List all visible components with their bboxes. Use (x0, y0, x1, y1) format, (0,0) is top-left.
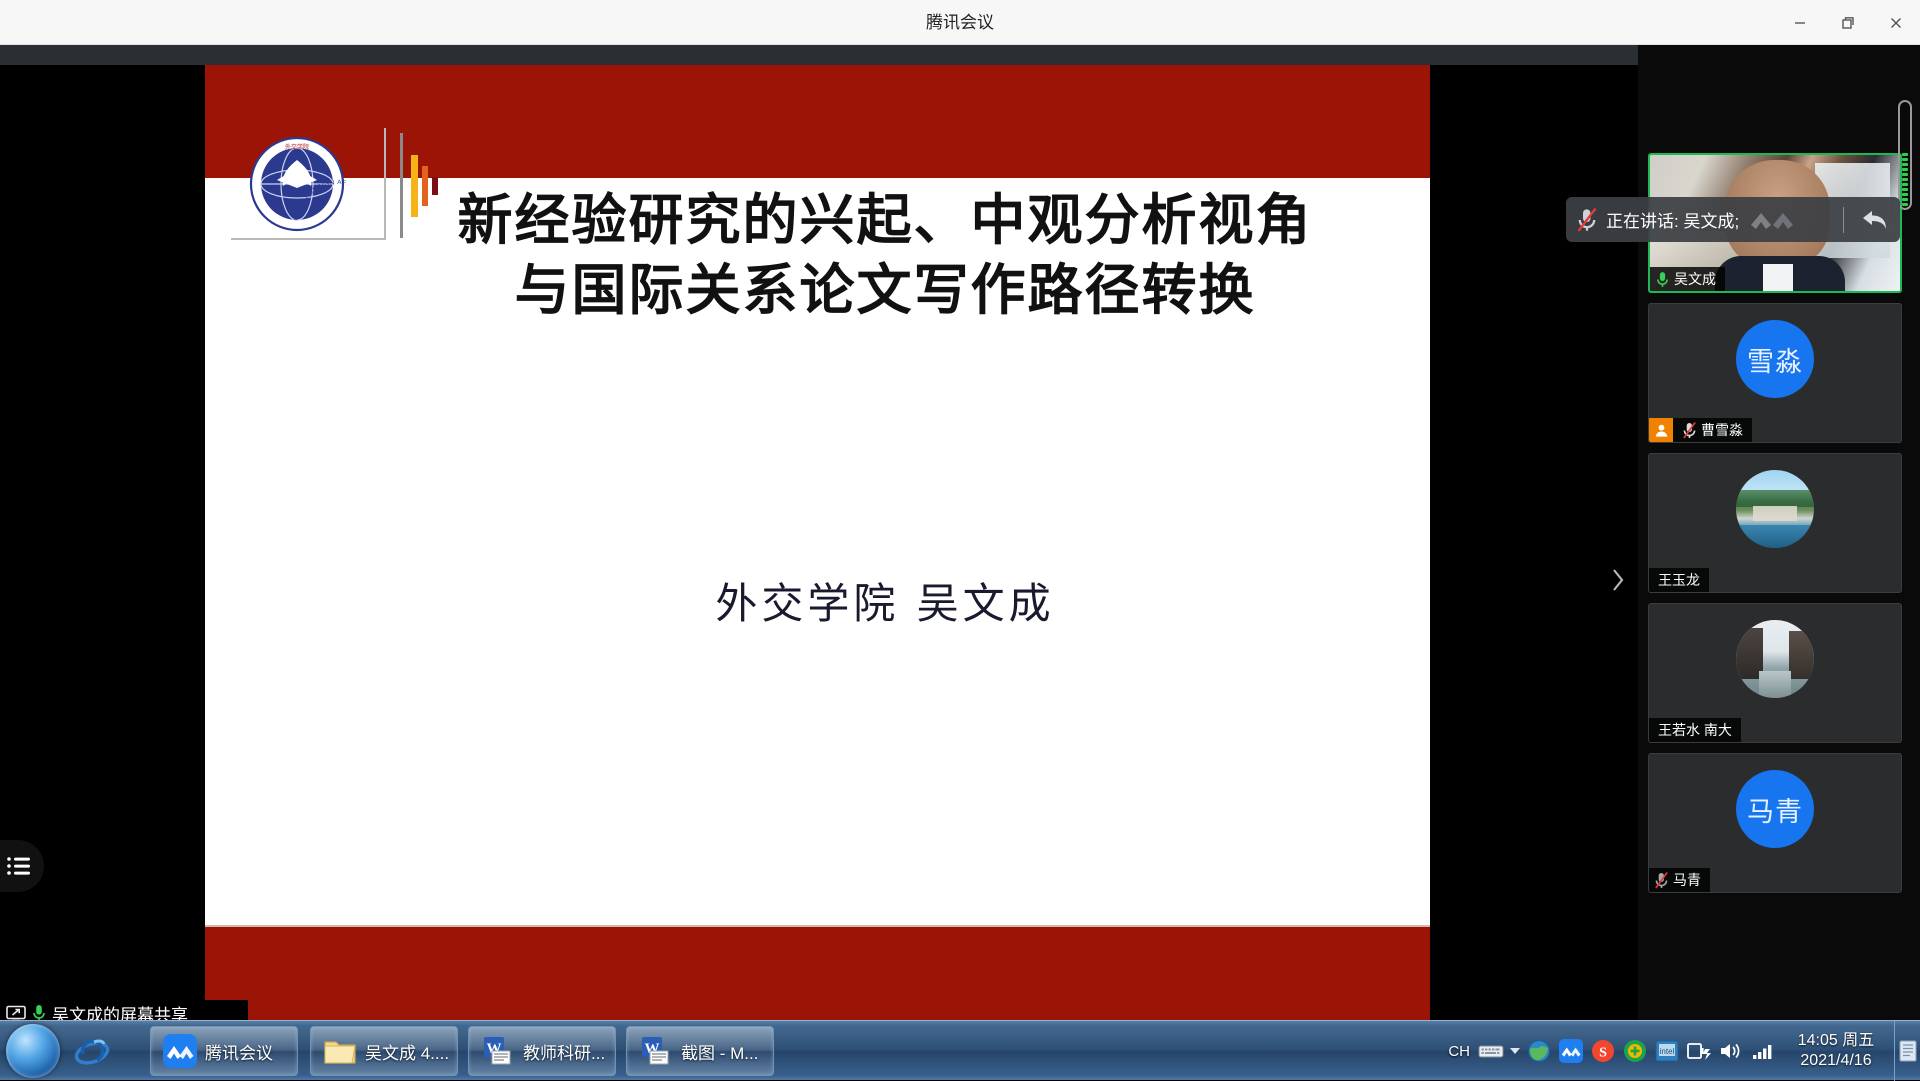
svg-text:intel: intel (1660, 1047, 1675, 1056)
speaking-toast[interactable]: 正在讲话: 吴文成; (1566, 197, 1900, 242)
taskbar-item-label: 教师科研... (523, 1039, 605, 1064)
presentation-slide: 外交学院 CHINA FOREIGN AFFAIRS UNIVERSITY 新经… (205, 65, 1430, 1040)
participant-name-bar: 马青 (1649, 868, 1710, 892)
show-desktop-button[interactable] (1894, 1021, 1920, 1081)
taskbar-item-folder[interactable]: 吴文成 4.... (310, 1026, 458, 1076)
svg-text:S: S (1599, 1046, 1607, 1061)
taskbar-item-word-doc-2[interactable]: W 截图 - M... (626, 1026, 774, 1076)
participant-name: 王玉龙 (1649, 570, 1700, 590)
collapse-panel-button[interactable] (1606, 560, 1630, 600)
word-icon: W (481, 1034, 515, 1068)
microphone-muted-icon[interactable] (1576, 208, 1598, 232)
network-signal-icon[interactable] (1748, 1021, 1778, 1081)
participant-name: 王若水 南大 (1649, 720, 1732, 740)
avatar: 马青 (1736, 770, 1814, 848)
participant-name-bar: 王玉龙 (1649, 568, 1709, 592)
reply-arrow-icon[interactable] (1860, 207, 1890, 233)
shared-screen-stage: 外交学院 CHINA FOREIGN AFFAIRS UNIVERSITY 新经… (0, 45, 1638, 1020)
window-title: 腾讯会议 (0, 0, 1920, 45)
keyboard-icon[interactable] (1476, 1021, 1506, 1081)
svg-text:外交学院: 外交学院 (285, 143, 309, 151)
meeting-window-body: 外交学院 CHINA FOREIGN AFFAIRS UNIVERSITY 新经… (0, 45, 1920, 1020)
intel-graphics-icon[interactable]: intel (1652, 1021, 1682, 1081)
close-button[interactable] (1872, 0, 1920, 45)
participant-name: 吴文成 (1674, 269, 1716, 289)
taskbar-item-tencent-meeting[interactable]: 腾讯会议 (150, 1026, 298, 1076)
chevron-small-down-icon[interactable] (1508, 1021, 1522, 1081)
microphone-muted-icon (1649, 872, 1673, 889)
toast-divider (1843, 207, 1844, 233)
taskbar-item-label: 吴文成 4.... (365, 1039, 449, 1064)
tencent-meeting-logo (1747, 205, 1805, 235)
folder-icon (323, 1034, 357, 1068)
microphone-on-icon (1650, 271, 1674, 288)
speaking-toast-label: 正在讲话: 吴文成; (1606, 207, 1739, 232)
list-menu-button[interactable] (0, 840, 44, 892)
volume-icon[interactable] (1716, 1021, 1746, 1081)
ime-indicator[interactable]: CH (1444, 1043, 1474, 1060)
slide-title-line-2: 与国际关系论文写作路径转换 (380, 255, 1390, 325)
360-safe-icon[interactable] (1620, 1021, 1650, 1081)
participant-name-bar: 曹雪淼 (1649, 418, 1752, 442)
taskbar-item-word-doc-1[interactable]: W 教师科研... (468, 1026, 616, 1076)
participant-panel[interactable]: 吴文成 雪淼 (1638, 45, 1920, 1020)
participant-tile-photo[interactable]: 王玉龙 (1648, 453, 1902, 593)
participant-tile-initials[interactable]: 马青 马青 (1648, 753, 1902, 893)
start-orb[interactable] (6, 1024, 60, 1078)
globe-icon[interactable] (1524, 1021, 1554, 1081)
participant-name-bar: 吴文成 (1650, 267, 1725, 291)
slide-logo-frame: 外交学院 CHINA FOREIGN AFFAIRS UNIVERSITY (231, 128, 386, 240)
participant-tile-photo[interactable]: 王若水 南大 (1648, 603, 1902, 743)
slide-subtitle: 外交学院 吴文成 (380, 570, 1390, 631)
clock-date: 2021/4/16 (1780, 1051, 1892, 1071)
tencent-meeting-icon (163, 1034, 197, 1068)
screen-share-icon (6, 1005, 26, 1022)
clock[interactable]: 14:05 周五 2021/4/16 (1780, 1031, 1892, 1071)
avatar (1736, 470, 1814, 548)
avatar-initials: 马青 (1747, 790, 1803, 829)
internet-explorer-icon (74, 1033, 110, 1069)
clock-time: 14:05 周五 (1780, 1031, 1892, 1051)
avatar (1736, 620, 1814, 698)
participant-name: 曹雪淼 (1701, 420, 1743, 440)
audio-level-meter (1898, 100, 1912, 210)
chevron-right-icon (1610, 567, 1626, 593)
china-foreign-affairs-university-logo: 外交学院 CHINA FOREIGN AFFAIRS UNIVERSITY (247, 134, 347, 234)
slide-title-line-1: 新经验研究的兴起、中观分析视角 (380, 185, 1390, 255)
participant-name: 马青 (1673, 870, 1701, 890)
restore-button[interactable] (1824, 0, 1872, 45)
host-badge (1649, 418, 1673, 442)
word-icon: W (639, 1034, 673, 1068)
participant-tile-initials[interactable]: 雪淼 曹雪淼 (1648, 303, 1902, 443)
avatar-initials: 雪淼 (1747, 340, 1803, 379)
minimize-button[interactable] (1776, 0, 1824, 45)
avatar: 雪淼 (1736, 320, 1814, 398)
window-title-bar: 腾讯会议 (0, 0, 1920, 45)
quick-launch-internet-explorer[interactable] (68, 1027, 116, 1075)
participant-name-bar: 王若水 南大 (1649, 718, 1741, 742)
battery-icon[interactable] (1684, 1021, 1714, 1081)
windows-taskbar[interactable]: 腾讯会议 吴文成 4.... W 教师科研... (0, 1020, 1920, 1080)
taskbar-item-label: 腾讯会议 (205, 1039, 273, 1064)
list-menu-icon (6, 856, 32, 876)
sogou-icon[interactable]: S (1588, 1021, 1618, 1081)
tencent-meeting-tray-icon[interactable] (1556, 1021, 1586, 1081)
microphone-muted-icon (1677, 422, 1701, 439)
taskbar-item-label: 截图 - M... (681, 1039, 758, 1064)
slide-top-band (205, 65, 1430, 178)
presenter-desktop-strip (0, 45, 1638, 65)
slide-title: 新经验研究的兴起、中观分析视角 与国际关系论文写作路径转换 (380, 185, 1390, 326)
system-tray[interactable]: CH (1444, 1021, 1920, 1081)
